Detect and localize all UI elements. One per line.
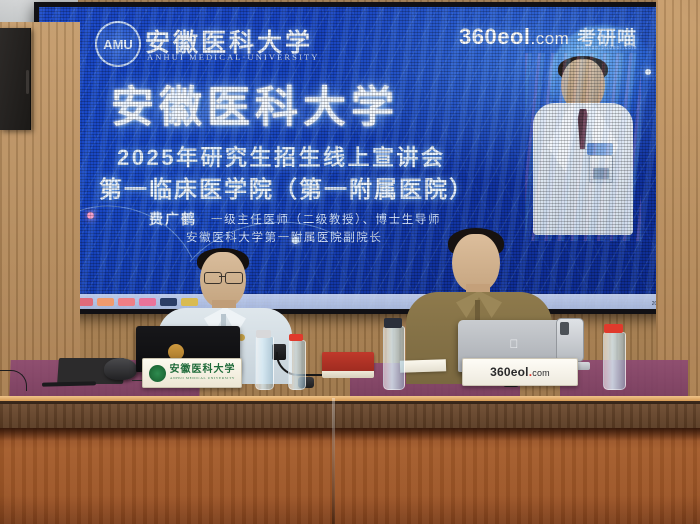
nameplate-360eol: 360eol.com: [462, 358, 578, 386]
water-bottle-3[interactable]: [603, 332, 626, 390]
screenshot-root: AMU 安徽医科大学 ANHUI MEDICAL·UNIVERSITY 360e…: [0, 0, 700, 524]
wood-wall-right: [656, 0, 700, 404]
windows-taskbar[interactable]: 17:26 2024/7/18: [39, 294, 679, 309]
led-screen-surface: AMU 安徽医科大学 ANHUI MEDICAL·UNIVERSITY 360e…: [39, 7, 679, 309]
desk-front-shadow: [0, 428, 700, 441]
amu-logo-initials: AMU: [103, 37, 133, 52]
arc-node-pink: [87, 212, 94, 219]
taskbar-app-orange-icon[interactable]: [97, 298, 114, 306]
screen-orb-dot: [645, 69, 651, 75]
nameplate-university-cn: 安徽医科大学: [170, 365, 236, 375]
slide-title-sub2: 第一临床医学院（第一附属医院）: [99, 170, 474, 204]
water-bottle-1[interactable]: [255, 336, 274, 390]
taskbar-app-magenta-icon[interactable]: [139, 298, 156, 306]
speaker-role: 一级主任医师（二级教授）、博士生导师: [211, 211, 441, 227]
nameplate-university-en: ANHUI MEDICAL UNIVERSITY: [170, 377, 235, 380]
nameplate-360eol-text: 360eol.com: [490, 365, 550, 379]
speaker-name: 费广鹤: [149, 209, 197, 229]
amu-name-en: ANHUI MEDICAL·UNIVERSITY: [147, 52, 319, 62]
bottle-cap-2: [384, 318, 402, 328]
bottle-cap-1: [256, 330, 271, 338]
desk-front-panel: [0, 428, 700, 524]
water-bottle-2[interactable]: [383, 326, 405, 390]
brand-kaoyanmiao-subtext: kaoyan.360eol.com: [577, 45, 637, 51]
brand-360eol: 360eol.com: [459, 24, 569, 50]
apple-logo-icon: : [508, 338, 520, 351]
eyeglasses-right-lens-icon: [225, 272, 243, 284]
led-video-wall[interactable]: AMU 安徽医科大学 ANHUI MEDICAL·UNIVERSITY 360e…: [34, 2, 684, 314]
slide-title-main: 安徽医科大学: [111, 73, 399, 135]
paper-stack[interactable]: [400, 359, 446, 373]
taskbar-app-pink-icon[interactable]: [118, 298, 135, 306]
bottle-cap-4: [289, 334, 303, 341]
brand-360eol-word: 360eol: [459, 24, 531, 49]
doctor-portrait-photo: [531, 59, 635, 235]
smartphone-on-stand[interactable]: [556, 318, 584, 362]
doctor-chest-emblem: [587, 143, 613, 155]
eyeglasses-left-lens-icon: [204, 272, 222, 284]
brand-360eol-domain: .com: [531, 29, 570, 48]
amu-logo-icon: AMU: [95, 21, 141, 67]
desk-panel-seam: [332, 398, 335, 524]
doctor-id-badge: [589, 155, 613, 183]
speaker-organization: 安徽医科大学第一附属医院副院长: [186, 229, 383, 245]
nameplate-university: 安徽医科大学 ANHUI MEDICAL UNIVERSITY: [142, 358, 242, 388]
nameplate-360eol-suffix: com: [532, 368, 550, 378]
red-notebook[interactable]: [322, 352, 374, 372]
bottle-cap-3: [604, 324, 623, 333]
eyeglasses-bridge-icon: [219, 276, 226, 277]
slide-title-sub1: 2025年研究生招生线上宣讲会: [117, 140, 445, 172]
university-seal-icon: [149, 365, 166, 382]
desk-edge-highlight: [0, 396, 700, 401]
water-bottle-4[interactable]: [288, 340, 306, 390]
nameplate-360eol-prefix: 360eol: [490, 365, 529, 379]
ceiling-speaker: [0, 28, 31, 130]
